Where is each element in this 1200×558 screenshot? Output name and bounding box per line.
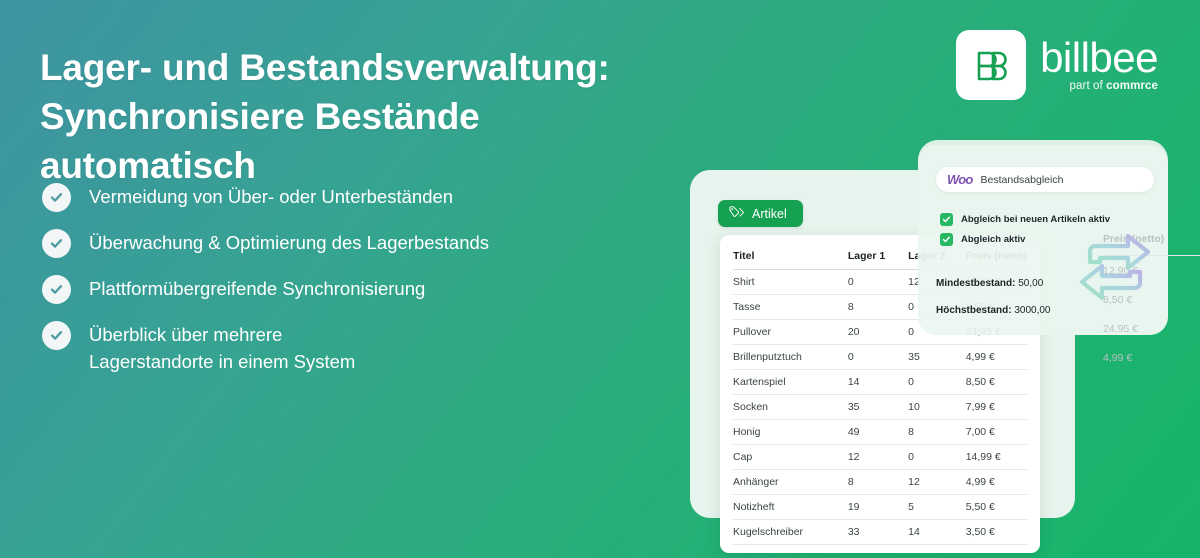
cell-preis: 3,50 €	[966, 520, 1027, 545]
list-item: Überblick über mehrere Lagerstandorte in…	[42, 320, 642, 376]
checkbox-label: Abgleich bei neuen Artikeln aktiv	[961, 214, 1110, 225]
cell-lager2: 5	[908, 495, 966, 520]
woo-platform-bar[interactable]: Woo Bestandsabgleich	[936, 167, 1154, 192]
list-item: Plattformübergreifende Synchronisierung	[42, 274, 642, 304]
cell-preis: 8,50 €	[966, 370, 1027, 395]
cell-titel: Kugelschreiber	[733, 520, 848, 545]
cell-preis: 4,99 €	[966, 345, 1027, 370]
cell-titel: Honig	[733, 420, 848, 445]
hero-text-column: Lager- und Bestandsverwaltung: Synchroni…	[40, 44, 660, 190]
mindestbestand-row: Mindestbestand: 50,00	[936, 278, 1043, 289]
cell-titel: Kartenspiel	[733, 370, 848, 395]
list-item: Überwachung & Optimierung des Lagerbesta…	[42, 228, 642, 258]
cell-lager2: 14	[908, 520, 966, 545]
table-row[interactable]: Anhänger 8 12 4,99 €	[733, 470, 1027, 495]
logo-wordmark: billbee	[1040, 38, 1158, 78]
cell-lager2: 35	[908, 345, 966, 370]
cell-lager1: 0	[848, 270, 908, 295]
bullet-label: Überwachung & Optimierung des Lagerbesta…	[89, 228, 489, 257]
check-circle-icon	[42, 275, 71, 304]
checkbox-row-abgleich-aktiv[interactable]: Abgleich aktiv	[940, 233, 1025, 246]
artikel-tab-label: Artikel	[752, 207, 787, 221]
table-row[interactable]: Notizheft 19 5 5,50 €	[733, 495, 1027, 520]
cell-preis: 5,50 €	[966, 495, 1027, 520]
bestandsabgleich-overlay: Woo Bestandsabgleich Abgleich bei neuen …	[918, 145, 1168, 335]
page-title: Lager- und Bestandsverwaltung: Synchroni…	[40, 44, 660, 190]
billbee-b-mark-icon	[956, 30, 1026, 100]
price-tag-icon	[729, 206, 752, 222]
column-header-titel[interactable]: Titel	[733, 245, 848, 270]
hoechstbestand-row: Höchstbestand: 3000,00	[936, 305, 1051, 316]
hoechstbestand-value: 3000,00	[1014, 305, 1050, 316]
checkbox-checked-icon[interactable]	[940, 213, 953, 226]
table-row[interactable]: Cap 12 0 14,99 €	[733, 445, 1027, 470]
cell-lager1: 35	[848, 395, 908, 420]
cell-preis: 14,99 €	[966, 445, 1027, 470]
cell-titel: Shirt	[733, 270, 848, 295]
bullet-label: Plattformübergreifende Synchronisierung	[89, 274, 425, 303]
mindestbestand-value: 50,00	[1018, 278, 1043, 289]
table-row[interactable]: Socken 35 10 7,99 €	[733, 395, 1027, 420]
table-row[interactable]: Brillenputztuch 0 35 4,99 €	[733, 345, 1027, 370]
cell-lager2: 12	[908, 470, 966, 495]
table-row[interactable]: Kartenspiel 14 0 8,50 €	[733, 370, 1027, 395]
check-circle-icon	[42, 183, 71, 212]
check-circle-icon	[42, 321, 71, 350]
cell-preis: 7,00 €	[966, 420, 1027, 445]
cell-lager1: 8	[848, 470, 908, 495]
cell-titel: Notizheft	[733, 495, 848, 520]
artikel-tab-button[interactable]: Artikel	[718, 200, 803, 227]
checkbox-label: Abgleich aktiv	[961, 234, 1025, 245]
cell-titel: Brillenputztuch	[733, 345, 848, 370]
checkbox-row-neue-artikel[interactable]: Abgleich bei neuen Artikeln aktiv	[940, 213, 1110, 226]
logo-tagline-brand: commrce	[1106, 80, 1158, 92]
logo-text-block: billbee part of commrce	[1040, 38, 1158, 93]
cell-lager2: 8	[908, 420, 966, 445]
cell-lager1: 0	[848, 345, 908, 370]
cell-lager1: 8	[848, 295, 908, 320]
cell-lager1: 49	[848, 420, 908, 445]
overlay-title: Bestandsabgleich	[981, 174, 1064, 186]
cell-lager1: 12	[848, 445, 908, 470]
check-circle-icon	[42, 229, 71, 258]
cell-preis: 4,99 €	[966, 470, 1027, 495]
cell-lager2: 0	[908, 445, 966, 470]
woocommerce-logo-icon: Woo	[947, 172, 973, 187]
cell-titel: Cap	[733, 445, 848, 470]
faded-price-value: 24,95 €	[1103, 314, 1200, 343]
table-row[interactable]: Kugelschreiber 33 14 3,50 €	[733, 520, 1027, 545]
bullet-label: Überblick über mehrere Lagerstandorte in…	[89, 320, 355, 376]
table-row[interactable]: Honig 49 8 7,00 €	[733, 420, 1027, 445]
billbee-logo: billbee part of commrce	[956, 30, 1158, 100]
cell-titel: Anhänger	[733, 470, 848, 495]
sync-loop-arrows-icon	[1076, 231, 1154, 308]
logo-tagline-prefix: part of	[1070, 80, 1107, 92]
checkbox-checked-icon[interactable]	[940, 233, 953, 246]
product-mockup: Artikel Titel Lager 1 Lager 2 Preis (net…	[690, 140, 1180, 530]
cell-lager1: 19	[848, 495, 908, 520]
list-item: Vermeidung von Über- oder Unterbeständen	[42, 182, 642, 212]
cell-lager2: 10	[908, 395, 966, 420]
cell-lager1: 33	[848, 520, 908, 545]
cell-titel: Pullover	[733, 320, 848, 345]
faded-price-value: 4,99 €	[1103, 343, 1200, 372]
cell-lager2: 0	[908, 370, 966, 395]
cell-preis: 7,99 €	[966, 395, 1027, 420]
logo-tagline: part of commrce	[1070, 80, 1158, 92]
cell-lager1: 20	[848, 320, 908, 345]
feature-bullet-list: Vermeidung von Über- oder Unterbeständen…	[42, 182, 642, 376]
column-header-lager1[interactable]: Lager 1	[848, 245, 908, 270]
hoechstbestand-label: Höchstbestand:	[936, 305, 1012, 316]
mindestbestand-label: Mindestbestand:	[936, 278, 1015, 289]
cell-titel: Tasse	[733, 295, 848, 320]
cell-lager1: 14	[848, 370, 908, 395]
cell-titel: Socken	[733, 395, 848, 420]
bullet-label: Vermeidung von Über- oder Unterbeständen	[89, 182, 453, 211]
